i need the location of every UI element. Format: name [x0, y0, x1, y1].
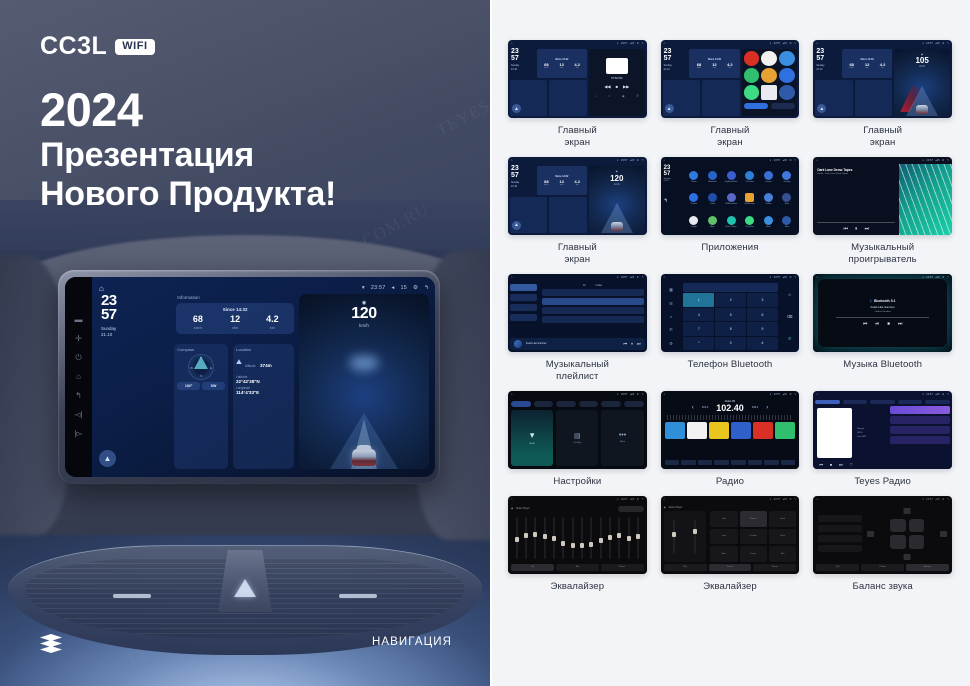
settings-body: ▾Wi-Fi ▤CarPlay •••More — [508, 398, 647, 469]
play-pause-icon[interactable]: ⏯ — [875, 321, 879, 327]
eq-band[interactable] — [532, 514, 539, 562]
rds-button[interactable] — [731, 460, 746, 465]
driving-view-widget[interactable]: ◉ 120 km/h — [299, 294, 429, 469]
gallery-item[interactable]: ⌂▾23:57◂15⚙↰ ᚼBluetooth 5.1 Feels Like S… — [813, 274, 952, 383]
thumbnail-settings[interactable]: ⌂▾23:57◂15⚙↰ ▾Wi-Fi ▤CarPlay •••More — [508, 391, 647, 469]
altitude-label: Altitude — [245, 364, 256, 368]
thumbnail-caption: Приложения — [701, 242, 758, 254]
app-grid[interactable]: Phone Bluetooth Keyboard Note Calculator… — [681, 164, 799, 235]
vent-slit-left — [113, 594, 151, 598]
eq-band[interactable] — [569, 514, 576, 562]
minus-icon[interactable]: ▬ — [75, 316, 83, 324]
key-6[interactable]: 6 — [747, 308, 778, 321]
key-3[interactable]: 3 — [747, 293, 778, 306]
carplay-card[interactable]: ▤CarPlay — [556, 410, 598, 466]
now-playing-bar[interactable]: Feels Like Summer ⏮ ⏸ ⏭ — [510, 338, 645, 350]
preset-bass[interactable]: Bass — [710, 546, 737, 562]
eq-band[interactable] — [588, 514, 595, 562]
app-item[interactable]: Settings — [779, 167, 796, 187]
stop-icon[interactable]: ⏹ — [887, 321, 890, 327]
settings-cards: ▾Wi-Fi ▤CarPlay •••More — [511, 410, 644, 466]
thumbnail-bt-music[interactable]: ⌂▾23:57◂15⚙↰ ᚼBluetooth 5.1 Feels Like S… — [813, 274, 952, 352]
thumb-status-bar: ⌂▾23:57◂15⚙↰ — [508, 496, 647, 503]
equalizer-header: ◉Music Player — [511, 506, 644, 512]
option-right[interactable] — [818, 545, 862, 552]
eq-band[interactable] — [597, 514, 604, 562]
tab-system[interactable] — [601, 401, 621, 407]
thumb-status-bar: ⌂▾23:57◂15⚙↰ — [508, 391, 647, 398]
dialer-actions[interactable]: ☆ ⌫ ✆ — [780, 281, 799, 352]
preset-classic[interactable]: Classic — [740, 511, 767, 527]
tab-wifi[interactable] — [511, 401, 531, 407]
key-0[interactable]: 0 — [715, 337, 746, 350]
next-icon[interactable]: ⏭ — [637, 341, 641, 346]
app-item[interactable]: FileManager — [741, 189, 758, 209]
power-icon[interactable]: ⏻ — [75, 354, 81, 362]
gallery-item[interactable]: ⌂▾23:57◂15⚙↰ RussiaFM 4Live 24/7 ⏮⏹⏭♡ — [813, 391, 952, 488]
tab-apps[interactable] — [579, 401, 599, 407]
tab-reset[interactable]: Reset — [753, 564, 796, 571]
seat-fr — [909, 519, 925, 533]
tab-sound[interactable] — [534, 401, 554, 407]
station-list[interactable] — [890, 406, 950, 460]
thumbnail-home-drive-red[interactable]: ⌂▾23:57◂15⚙↰ 2357Sunday21.10 Since 14:32… — [813, 40, 952, 118]
backspace-icon[interactable]: ⌫ — [787, 314, 793, 319]
prev-icon[interactable]: ⏮ — [819, 462, 823, 467]
app-item[interactable]: USB Emulator — [723, 189, 740, 209]
progress-bar[interactable] — [817, 222, 895, 223]
tab-genre[interactable] — [843, 400, 868, 404]
prev-icon[interactable]: ⏮ — [623, 341, 627, 346]
option-left[interactable] — [818, 535, 862, 542]
home-icon: ⌂ — [664, 498, 666, 501]
teyes-tabs[interactable] — [815, 400, 950, 404]
eq-band[interactable] — [616, 514, 623, 562]
app-item[interactable]: Google — [685, 212, 702, 232]
home-screen-body: 23 57 Sunday 21.10 Information — [99, 294, 429, 469]
thumbnail-teyes-radio[interactable]: ⌂▾23:57◂15⚙↰ RussiaFM 4Live 24/7 ⏮⏹⏭♡ — [813, 391, 952, 469]
thumb-status-bar: ⌂▾23:57◂15⚙↰ — [813, 274, 952, 281]
gallery-item[interactable]: ⌂▾23:57◂15⚙↰ ◉Music Player PopClassicRoc… — [661, 496, 800, 593]
thumbnail-home-apps[interactable]: ⌂▾23:57◂15⚙↰ 23 57 Sunday21.10 Since 1 — [661, 40, 800, 118]
app-item[interactable]: Bluetooth — [704, 167, 721, 187]
information-since: Since 14:32 — [539, 58, 585, 61]
hazard-triangle-icon — [234, 579, 256, 597]
list-item[interactable] — [542, 316, 644, 323]
gallery-item[interactable]: ⌂▾23:57◂15⚙↰ ▦ ☰ ⌕ ✆ ⚙ 123 — [661, 274, 800, 383]
dialer-sidebar[interactable]: ▦ ☰ ⌕ ✆ ⚙ — [661, 281, 682, 352]
list-item[interactable] — [890, 406, 950, 414]
next-icon[interactable]: |▻ — [74, 430, 82, 438]
clock-minutes: 57 — [664, 172, 682, 178]
home-icon: ⌂ — [664, 393, 666, 396]
search-button[interactable] — [681, 460, 696, 465]
information-stats: 68km/h 12min 4.2km — [539, 62, 585, 69]
key-2[interactable]: 2 — [715, 293, 746, 306]
tab-eq[interactable]: EQ — [816, 564, 859, 571]
app-item[interactable]: Phone — [685, 167, 702, 187]
home-icon: ⌂ — [816, 276, 818, 279]
prev-icon[interactable]: ⏮ — [863, 321, 868, 327]
app-item[interactable]: Waze — [760, 212, 777, 232]
eq-band[interactable] — [606, 514, 613, 562]
eq-band[interactable] — [550, 514, 557, 562]
call-log-icon[interactable]: ✆ — [669, 327, 672, 332]
thumbnail-music-player[interactable]: ⌂▾23:57◂15⚙↰ Dark Lane Demo Tapes Drake … — [813, 157, 952, 235]
information-widget[interactable]: Information Since 14:32 68 km/h — [176, 294, 294, 339]
home-icon: ⌂ — [664, 276, 666, 279]
gallery-item[interactable]: ⌂▾23:57◂15⚙↰ Dark Lane Demo Tapes Drake … — [813, 157, 952, 266]
thumb-content: 23 57 Sunday21.10 Since 14:32 68km/h 12m… — [661, 47, 800, 118]
gallery-item[interactable]: ⌂▾23:57◂15⚙↰ 2357Sunday21.10 Since 14:32… — [508, 157, 647, 266]
tab-display[interactable] — [556, 401, 576, 407]
balance-down[interactable] — [904, 554, 911, 560]
number-display[interactable] — [683, 283, 777, 292]
eq-band[interactable] — [522, 514, 529, 562]
app-item[interactable]: Chrome — [685, 189, 702, 209]
app-item[interactable]: Music Player — [723, 212, 740, 232]
navigation-arrow-icon[interactable]: ▲ — [99, 450, 116, 467]
plus-icon[interactable]: ✛ — [75, 335, 82, 343]
bass-treble-sliders[interactable] — [664, 511, 706, 562]
location-widget[interactable]: Location ⛰ Altitude 374m — [233, 344, 294, 469]
thumbnail-apps[interactable]: ⌂▾23:57◂15⚙↰ 23 57 Sunday21.10 ↰ Phone B… — [661, 157, 800, 235]
eq-band[interactable] — [541, 514, 548, 562]
wifi-icon: ▾ — [362, 285, 365, 291]
app-item[interactable]: Play Store — [741, 212, 758, 232]
tab-talk[interactable] — [925, 400, 950, 404]
seat-rl — [890, 535, 906, 549]
presentation-slide: TEYES.COM.RU TEYES.COM.RU TEYES.COM.RU C… — [0, 0, 970, 686]
app-item[interactable]: Maps — [704, 212, 721, 232]
slider[interactable] — [672, 517, 677, 555]
back-icon[interactable]: ↰ — [424, 285, 429, 291]
stop-icon[interactable]: ⏹ — [830, 462, 832, 467]
favorite-icon[interactable]: ☆ — [788, 292, 792, 297]
clock-minutes: 57 — [511, 56, 535, 63]
clock-and-info: 23 57 Sunday 21.10 Information — [99, 294, 294, 339]
list-item[interactable] — [890, 436, 950, 444]
dialer-body: ▦ ☰ ⌕ ✆ ⚙ 123 456 789 *0 — [661, 281, 800, 352]
balance-options[interactable] — [818, 508, 862, 560]
preset-4[interactable] — [731, 422, 751, 439]
settings-icon[interactable]: ⚙ — [669, 341, 673, 346]
keypad[interactable]: 123 456 789 *0# — [683, 293, 777, 350]
thumbnail-equalizer-presets[interactable]: ⌂▾23:57◂15⚙↰ ◉Music Player PopClassicRoc… — [661, 496, 800, 574]
navigation-arrow-icon[interactable]: ▲ — [665, 104, 674, 113]
preset-rock[interactable]: Rock — [769, 511, 796, 527]
stat-item: 4.2km — [569, 62, 584, 69]
playlist-tabs[interactable]: AllFolder — [542, 284, 644, 287]
clock-widget[interactable]: 23 57 Sunday 21.10 — [99, 294, 169, 339]
playback-controls[interactable]: ⏮ ⏯ ⏹ ⏭ — [863, 321, 903, 327]
stat-item: 68km/h — [539, 62, 554, 69]
preset-flat[interactable]: Flat — [769, 546, 796, 562]
tab-news[interactable] — [870, 400, 895, 404]
head-unit-side-keys[interactable]: ▬ ✛ ⏻ ⌂ ↰ ◅| |▻ — [65, 277, 92, 477]
gallery-item[interactable]: ⌂▾23:57◂15⚙↰ AllFolder Feels — [508, 274, 647, 383]
head-unit-screen-frame: ▬ ✛ ⏻ ⌂ ↰ ◅| |▻ ⌂ ▾ 23:57 — [65, 277, 435, 477]
back-icon[interactable]: ↰ — [75, 392, 82, 400]
more-card[interactable]: •••More — [601, 410, 643, 466]
equalizer-tabs[interactable]: EQPresetReset — [664, 564, 797, 571]
speed-value: 105 — [894, 57, 950, 65]
balance-body: EQPresetBalance — [813, 503, 952, 574]
thumb-status-bar: ⌂▾23:57◂15⚙↰ — [813, 391, 952, 398]
key-star[interactable]: * — [683, 337, 714, 350]
compass-readout: 180° SW — [177, 382, 225, 390]
gallery-item[interactable]: ⌂▾23:57◂15⚙↰ 23 57 Sunday21.10 Since 1 — [508, 40, 647, 149]
list-button[interactable] — [698, 460, 713, 465]
tab-music[interactable] — [898, 400, 923, 404]
thumbnail-caption: Музыкальныйплейлист — [546, 359, 609, 383]
preset-1[interactable] — [665, 422, 685, 439]
stat-item: 12 min — [216, 315, 253, 330]
home-left: 23 57 Sunday21.10 Since 14:32 68km/h 12m… — [663, 49, 740, 116]
headline-line1: Презентация — [40, 136, 336, 175]
preset-custom[interactable]: Custom — [740, 529, 767, 545]
stat-unit: km/h — [539, 67, 554, 69]
balance-pad[interactable] — [867, 508, 947, 560]
gear-icon[interactable]: ⚙ — [413, 285, 418, 291]
prev-icon[interactable]: ⏮ — [844, 226, 849, 232]
eq-band[interactable] — [625, 514, 632, 562]
gallery-item[interactable]: ⌂▾23:57◂15⚙↰ 23 57 Sunday21.10 Since 1 — [661, 40, 800, 149]
navigation-arrow-icon[interactable]: ▲ — [512, 104, 521, 113]
stat-item: 4.2 km — [254, 315, 291, 330]
app-item[interactable]: Camera — [760, 167, 777, 187]
seat-fl — [890, 519, 906, 533]
home-icon[interactable]: ⌂ — [76, 373, 81, 381]
eq-band[interactable] — [578, 514, 585, 562]
key-5[interactable]: 5 — [715, 308, 746, 321]
eq-band[interactable] — [560, 514, 567, 562]
presets-content: PopClassicRock JazzCustomVocal BassDance… — [664, 511, 797, 562]
balance-up[interactable] — [904, 508, 911, 514]
information-box: Since 14:32 68km/h 12min 4.2km — [537, 49, 587, 78]
speed-value: 120 — [299, 306, 429, 322]
compass-direction: SW — [202, 382, 225, 390]
thumbnail-home-media[interactable]: ⌂▾23:57◂15⚙↰ 23 57 Sunday21.10 Since 1 — [508, 40, 647, 118]
list-item[interactable] — [890, 416, 950, 424]
gallery-item[interactable]: ⌂▾23:57◂15⚙↰ 2357Sunday21.10 Since 14:32… — [813, 40, 952, 149]
balance-left[interactable] — [867, 531, 874, 537]
preset-dance[interactable]: Dance — [740, 546, 767, 562]
thumbnail-caption: Настройки — [553, 476, 601, 488]
tab-preset[interactable]: Preset — [709, 564, 752, 571]
more-button[interactable] — [748, 460, 763, 465]
playback-controls[interactable]: ⏮ ⏸ ⏭ — [817, 226, 895, 232]
home-icon: ⌂ — [816, 42, 818, 45]
navigation-arrow-icon[interactable]: ▲ — [512, 221, 521, 230]
key-4[interactable]: 4 — [683, 308, 714, 321]
equalizer-sliders[interactable] — [511, 514, 644, 562]
settings-button[interactable] — [764, 460, 779, 465]
thumbnail-caption: Эквалайзер — [550, 581, 604, 593]
app-item[interactable]: Back — [779, 189, 796, 209]
home-icon: ⌂ — [511, 498, 513, 501]
location-card — [855, 80, 892, 116]
thumb-clock: 23 57 Sunday21.10 — [663, 49, 688, 78]
equalizer-header: ◉Music Player — [664, 506, 797, 509]
list-item[interactable] — [542, 289, 644, 296]
home-left-column: 23 57 Sunday 21.10 Information — [99, 294, 294, 469]
app-item[interactable]: Gallery — [760, 189, 777, 209]
preset-6[interactable] — [775, 422, 795, 439]
next-icon[interactable]: ⏭ — [898, 321, 903, 327]
information-stats: 68 km/h 12 min — [179, 315, 291, 330]
pause-icon[interactable]: ⏸ — [631, 341, 633, 346]
preset-2[interactable] — [687, 422, 707, 439]
key-hash[interactable]: # — [747, 337, 778, 350]
wifi-card[interactable]: ▾Wi-Fi — [511, 410, 553, 466]
stat-unit: min — [216, 326, 253, 330]
preset-grid[interactable]: PopClassicRock JazzCustomVocal BassDance… — [710, 511, 796, 562]
balance-tabs[interactable]: EQPresetBalance — [816, 564, 949, 571]
tab-all[interactable] — [815, 400, 840, 404]
vent-slit-right — [339, 594, 377, 598]
tab-eq[interactable]: EQ — [511, 564, 554, 571]
source-label: Music Player — [516, 507, 530, 510]
eq-button[interactable] — [714, 460, 729, 465]
thumbnail-balance[interactable]: ⌂▾23:57◂15⚙↰ EQPreset — [813, 496, 952, 574]
widgets-row-2: ▲ Compass N E S — [99, 344, 294, 469]
progress-bar[interactable] — [836, 317, 929, 318]
car-3d-model — [611, 222, 623, 231]
tab-about[interactable] — [624, 401, 644, 407]
tab-balance[interactable]: Balance — [906, 564, 949, 571]
thumb-status-bar: ⌂▾23:57◂15⚙↰ — [508, 157, 647, 164]
preset-5[interactable] — [753, 422, 773, 439]
app-item[interactable]: Keyboard Note — [723, 167, 740, 187]
key-1[interactable]: 1 — [683, 293, 714, 306]
teyes-radio-body: RussiaFM 4Live 24/7 ⏮⏹⏭♡ — [813, 398, 952, 469]
compass-widget[interactable]: Compass N E S W — [174, 344, 228, 469]
thumbnail-caption: Телефон Bluetooth — [688, 359, 773, 371]
next-icon[interactable]: ⏭ — [839, 462, 843, 467]
app-item[interactable]: Carbit — [704, 189, 721, 209]
frequency-scale[interactable] — [667, 415, 794, 420]
favorite-icon[interactable]: ♡ — [850, 462, 854, 467]
call-icon[interactable]: ✆ — [788, 336, 791, 341]
preset-pop[interactable]: Pop — [710, 511, 737, 527]
prev-icon[interactable]: ◅| — [74, 411, 82, 419]
gallery-item[interactable]: ⌂▾23:57◂15⚙↰ 23 57 Sunday21.10 ↰ Phone B… — [661, 157, 800, 266]
tab-balance[interactable]: Bal — [556, 564, 599, 571]
thumbnail-caption: Главныйэкран — [863, 125, 902, 149]
balance-right[interactable] — [940, 531, 947, 537]
home-left: 23 57 Sunday21.10 Since 14:32 68km/h 12m… — [510, 49, 587, 116]
list-item[interactable] — [542, 307, 644, 314]
preset-3[interactable] — [709, 422, 729, 439]
next-icon[interactable]: ⏭ — [865, 226, 870, 232]
option-front[interactable] — [818, 515, 862, 522]
thumbnail-home-drive[interactable]: ⌂▾23:57◂15⚙↰ 2357Sunday21.10 Since 14:32… — [508, 157, 647, 235]
home-icon: ⌂ — [816, 393, 818, 396]
radio-body: Radio FM ‹ 101.3 102.40 103.1 › — [661, 398, 800, 469]
option-rear[interactable] — [818, 525, 862, 532]
home-icon: ⌂ — [511, 276, 513, 279]
tab-eq[interactable]: EQ — [664, 564, 707, 571]
home-icon: ⌂ — [664, 42, 666, 45]
status-bar: ⌂ ▾ 23:57 ◂ 15 ⚙ ↰ — [99, 282, 429, 294]
eq-band[interactable] — [634, 514, 641, 562]
list-item[interactable] — [542, 298, 644, 305]
station-artwork — [817, 408, 852, 458]
gallery-item[interactable]: ⌂▾23:57◂15⚙↰ ◉Music Player — [508, 496, 647, 593]
station-presets[interactable] — [663, 422, 798, 439]
stat-item: 12min — [554, 62, 569, 69]
app-item[interactable]: Calculator — [741, 167, 758, 187]
playback-controls[interactable]: ⏮⏹⏭♡ — [815, 462, 950, 467]
search-icon[interactable]: ⌕ — [670, 314, 672, 319]
seat-layout — [890, 519, 924, 549]
grid-button[interactable] — [781, 460, 796, 465]
gallery-item[interactable]: ⌂▾23:57◂15⚙↰ EQPreset — [813, 496, 952, 593]
dialer-main: 123 456 789 *0# — [681, 281, 779, 352]
preset-vocal[interactable]: Vocal — [769, 529, 796, 545]
radio-toolbar[interactable] — [663, 458, 798, 467]
tab-reset[interactable]: Reset — [601, 564, 644, 571]
band-button[interactable] — [665, 460, 680, 465]
preset-pill[interactable] — [618, 506, 644, 512]
brand-name: CC3L — [40, 32, 107, 61]
next-station-icon[interactable]: › — [766, 405, 768, 411]
track-artist: Childish Gambino — [874, 311, 890, 313]
thumbnail-radio[interactable]: ⌂▾23:57◂15⚙↰ Radio FM ‹ 101.3 102.40 103… — [661, 391, 800, 469]
key-8[interactable]: 8 — [715, 322, 746, 335]
volume-icon[interactable]: ◂ — [392, 285, 395, 291]
latitude-value: 22°42'38"N — [236, 379, 291, 385]
eq-band[interactable] — [513, 514, 520, 562]
stat-unit: km — [254, 326, 291, 330]
balance-content — [816, 506, 949, 562]
slider[interactable] — [693, 517, 698, 555]
equalizer-tabs[interactable]: EQBalReset — [511, 564, 644, 571]
thumbnail-playlist[interactable]: ⌂▾23:57◂15⚙↰ AllFolder Feels — [508, 274, 647, 352]
source-label: Music Player — [669, 506, 683, 509]
bt-music-body: ᚼBluetooth 5.1 Feels Like Summer Childis… — [813, 274, 952, 352]
gallery-item[interactable]: ⌂▾23:57◂15⚙↰ ▾Wi-Fi ▤CarPlay •••More Нас… — [508, 391, 647, 488]
equalizer-presets-body: ◉Music Player PopClassicRock JazzCustomV… — [661, 503, 800, 574]
keypad-icon[interactable]: ▦ — [669, 287, 673, 292]
contacts-icon[interactable]: ☰ — [669, 301, 673, 306]
compass-dial: N E S W — [188, 354, 214, 380]
gallery-item[interactable]: ⌂▾23:57◂15⚙↰ Radio FM ‹ 101.3 102.40 103… — [661, 391, 800, 488]
prev-station-icon[interactable]: ‹ — [692, 405, 694, 411]
settings-tabs[interactable] — [511, 401, 644, 407]
tab-preset[interactable]: Preset — [861, 564, 904, 571]
stat-unit: km/h — [179, 326, 216, 330]
stat-item: 68 km/h — [179, 315, 216, 330]
key-9[interactable]: 9 — [747, 322, 778, 335]
key-7[interactable]: 7 — [683, 322, 714, 335]
speed-unit: km/h — [589, 184, 645, 187]
pause-icon[interactable]: ⏸ — [855, 226, 858, 232]
thumb-status-bar: ⌂▾23:57◂15⚙↰ — [661, 391, 800, 398]
list-item[interactable] — [890, 426, 950, 434]
head-unit-screen[interactable]: ⌂ ▾ 23:57 ◂ 15 ⚙ ↰ — [92, 277, 435, 477]
app-item[interactable]: More — [779, 212, 796, 232]
teyes-content: RussiaFM 4Live 24/7 — [815, 406, 950, 460]
clock-date-label: 21.10 — [101, 332, 112, 337]
layers-icon — [40, 634, 62, 654]
back-icon[interactable]: ↰ — [664, 199, 682, 204]
preset-jazz[interactable]: Jazz — [710, 529, 737, 545]
thumbnail-bt-phone[interactable]: ⌂▾23:57◂15⚙↰ ▦ ☰ ⌕ ✆ ⚙ 123 — [661, 274, 800, 352]
thumbnail-equalizer[interactable]: ⌂▾23:57◂15⚙↰ ◉Music Player — [508, 496, 647, 574]
stat-unit: km — [569, 67, 584, 69]
